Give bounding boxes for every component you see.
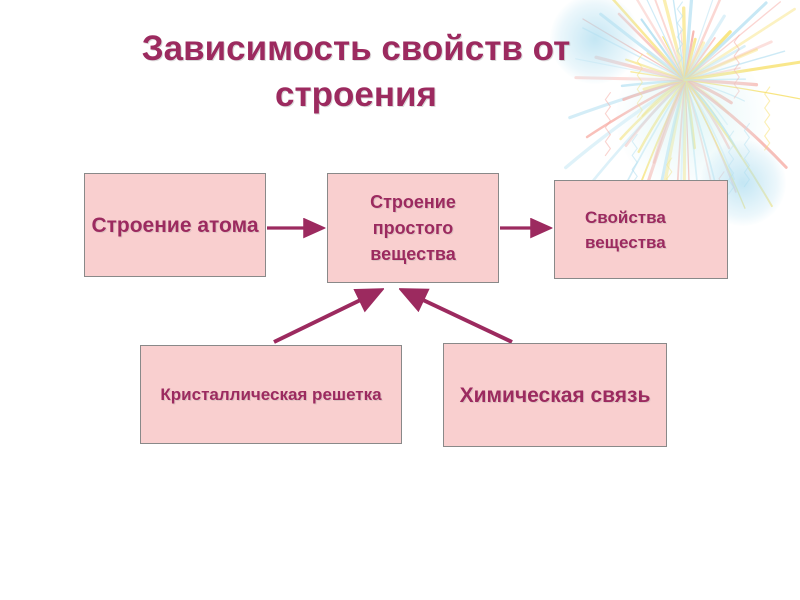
arrow-lattice-to-simple xyxy=(274,291,379,342)
node-label: Свойства вещества xyxy=(555,205,727,255)
node-svoystva-veshchestva[interactable]: Свойства вещества xyxy=(554,180,728,279)
node-stroenie-prostogo-veshchestva[interactable]: Строение простого вещества xyxy=(327,173,499,283)
node-label: Кристаллическая решетка xyxy=(141,382,401,408)
node-label: Строение простого вещества xyxy=(328,189,498,267)
node-label: Строение атома xyxy=(85,211,265,240)
node-stroenie-atoma[interactable]: Строение атома xyxy=(84,173,266,277)
slide-canvas: Зависимость свойств от строения Строение… xyxy=(0,0,800,600)
firework-glow-icon xyxy=(616,42,766,192)
page-title: Зависимость свойств от строения xyxy=(96,26,616,118)
arrow-bond-to-simple xyxy=(404,291,512,342)
node-khimicheskaya-svyaz[interactable]: Химическая связь xyxy=(443,343,667,447)
node-kristallicheskaya-reshetka[interactable]: Кристаллическая решетка xyxy=(140,345,402,444)
node-label: Химическая связь xyxy=(444,380,666,411)
